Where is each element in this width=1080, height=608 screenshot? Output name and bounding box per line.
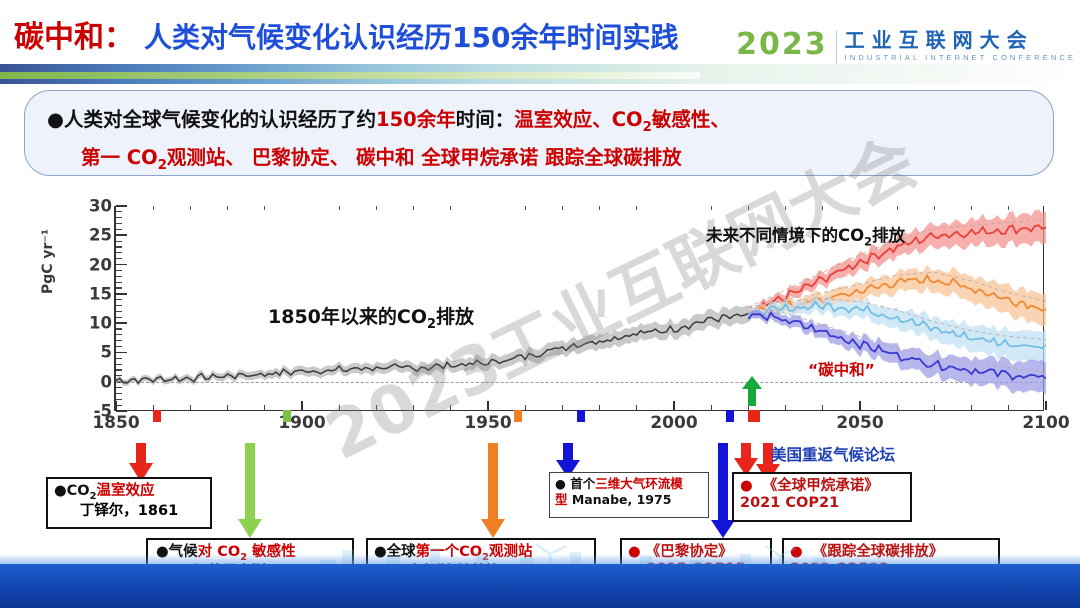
y-tick-label: 5 <box>72 343 112 362</box>
logo-year: 2023 <box>736 30 828 60</box>
y-tick-label: 10 <box>72 314 112 333</box>
note1-line2: 丁铎尔，1861 <box>54 503 204 520</box>
y-tick-label: 0 <box>72 372 112 391</box>
chart-plot-area: -5051015202530 185019001950200020502100 … <box>114 206 1044 411</box>
timeline-marker-2022 <box>752 410 760 422</box>
arrow-1896-green <box>237 443 263 539</box>
note-manabe-model[interactable]: ● 首个三维大气环流模 型 Manabe, 1975 <box>549 472 709 518</box>
header-ribbon-green <box>0 72 700 79</box>
green-up-arrow-icon <box>742 376 762 406</box>
slide-header: 碳中和：人类对气候变化认识经历150余年时间实践 2023 中国·北京 8月18… <box>0 0 1080 84</box>
logo-title-cn: 工业互联网大会 <box>845 30 1076 51</box>
chart-series-svg <box>116 206 1046 411</box>
page-title-red: 碳中和： <box>14 20 134 55</box>
statement-l2-part2: 观测站、 巴黎协定、 碳中和 全球甲烷承诺 跟踪全球碳排放 <box>167 146 682 169</box>
timeline-marker-2015 <box>726 410 734 422</box>
x-tick-label: 2100 <box>1022 413 1069 433</box>
statement-l1-sub: 2 <box>643 120 652 135</box>
note-co2-greenhouse[interactable]: ●CO2温室效应 丁铎尔，1861 <box>46 477 212 529</box>
statement-l1-part3: 温室效应、CO <box>514 108 642 131</box>
note1-line1: ●CO2温室效应 <box>54 483 204 503</box>
arrow-1958-orange <box>480 443 506 539</box>
statement-l1-highlight: 150余年 <box>376 108 456 131</box>
x-tick-label: 2050 <box>836 413 883 433</box>
timeline-marker-1975 <box>577 410 585 422</box>
logo-title-en: INDUSTRIAL INTERNET CONFERENCE <box>845 53 1076 62</box>
statement-box: ●人类对全球气候变化的认识经历了约150余年时间：温室效应、CO2敏感性、 第一… <box>24 90 1054 176</box>
statement-line-1: ●人类对全球气候变化的认识经历了约150余年时间：温室效应、CO2敏感性、 <box>47 103 730 135</box>
annotation-future: 未来不同情境下的CO2排放 <box>706 222 905 248</box>
usa-return-note: 美国重返气候论坛 <box>771 443 895 465</box>
x-tick-label: 1950 <box>464 413 511 433</box>
bottom-banner <box>0 542 1080 608</box>
note4-line2: 型 Manabe, 1975 <box>555 492 703 508</box>
statement-l1-part2: 时间： <box>456 108 515 131</box>
y-axis-label: PgC yr⁻¹ <box>40 229 56 294</box>
y-tick-label: 20 <box>72 255 112 274</box>
note-methane-pledge[interactable]: ● 《全球甲烷承诺》 2021 COP21 <box>732 472 912 522</box>
note5-line1: ● 《全球甲烷承诺》 <box>740 478 904 495</box>
timeline-marker-1861 <box>153 410 161 422</box>
annotation-carbon-neutral: “碳中和” <box>808 358 875 380</box>
note5-line2: 2021 COP21 <box>740 495 904 512</box>
page-title-blue: 人类对气候变化认识经历150余年时间实践 <box>144 21 678 54</box>
statement-l1-part1: ●人类对全球气候变化的认识经历了约 <box>47 108 376 131</box>
y-tick-label: 25 <box>72 226 112 245</box>
statement-l2-sub: 2 <box>158 158 167 173</box>
banner-wave <box>0 564 1080 608</box>
note4-line1: ● 首个三维大气环流模 <box>555 476 703 492</box>
statement-line-2: 第一 CO2观测站、 巴黎协定、 碳中和 全球甲烷承诺 跟踪全球碳排放 <box>81 141 682 173</box>
x-tick-label: 2000 <box>650 413 697 433</box>
x-tick-label: 1850 <box>92 413 139 433</box>
y-tick-label: 15 <box>72 284 112 303</box>
emissions-chart: PgC yr⁻¹ -5051015202530 1850190019502000… <box>44 198 1056 438</box>
annotation-historical: 1850年以来的CO2排放 <box>268 302 474 332</box>
page-title: 碳中和：人类对气候变化认识经历150余年时间实践 <box>14 12 678 56</box>
statement-l1-part4: 敏感性、 <box>652 108 730 131</box>
timeline-marker-1958 <box>514 410 522 422</box>
y-tick-label: 30 <box>72 197 112 216</box>
statement-l2-part1: 第一 CO <box>81 146 158 169</box>
timeline-marker-1896 <box>283 410 291 422</box>
